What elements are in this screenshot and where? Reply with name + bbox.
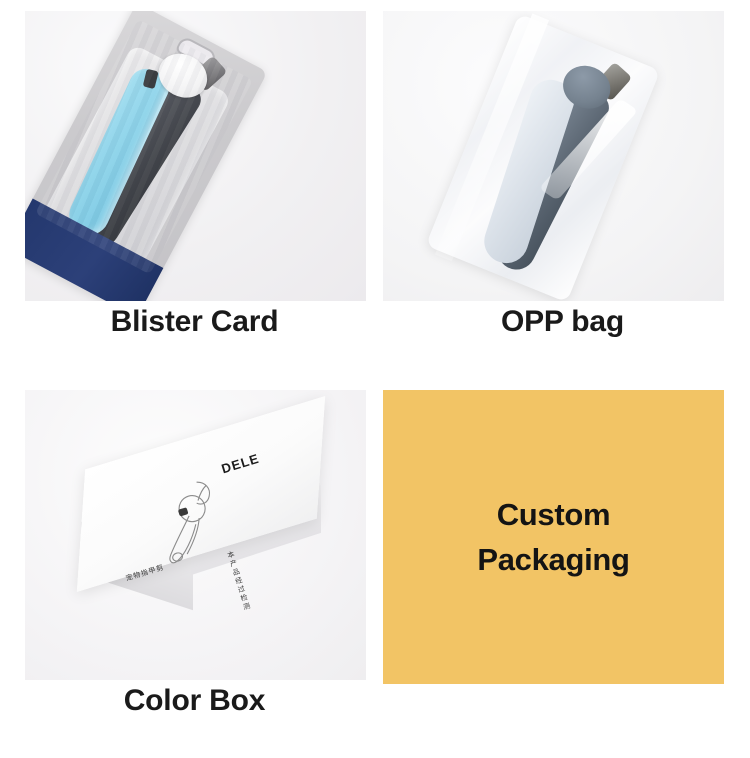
clipper-round-head [151, 45, 215, 106]
color-box-photo: DELE 宠物指甲剪 本产品经过检测 [25, 390, 366, 680]
packaging-cell-blister-card[interactable]: Blister Card [0, 0, 375, 379]
packaging-cell-opp-bag[interactable]: OPP bag [375, 0, 750, 379]
custom-packaging-panel[interactable]: Custom Packaging [383, 390, 724, 684]
opp-bag-photo [383, 11, 724, 301]
caption-color-box: Color Box [0, 679, 375, 723]
packaging-cell-color-box[interactable]: DELE 宠物指甲剪 本产品经过检测 Color Box [0, 379, 375, 758]
caption-blister-card: Blister Card [0, 300, 375, 344]
caption-opp-bag: OPP bag [375, 300, 750, 344]
packaging-cell-custom-packaging[interactable]: Custom Packaging [375, 379, 750, 758]
packaging-options-grid: Blister Card OPP bag [0, 0, 750, 758]
clipper-lock-switch [143, 69, 159, 89]
custom-packaging-label: Custom Packaging [477, 492, 629, 582]
clipper-blade-tip [190, 55, 227, 91]
blister-card-photo [25, 11, 366, 301]
